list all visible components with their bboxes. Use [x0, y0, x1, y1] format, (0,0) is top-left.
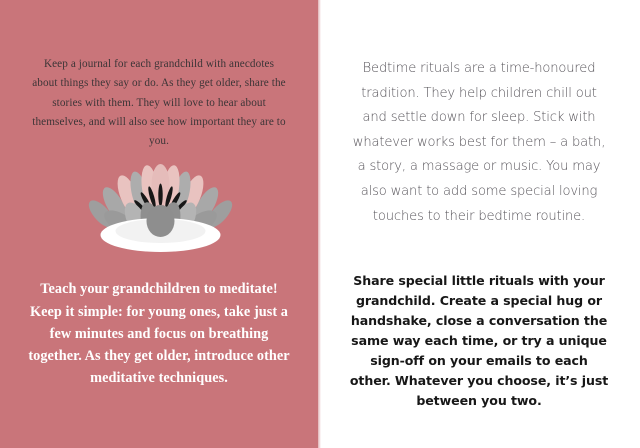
- right-page: Bedtime rituals are a time-honoured trad…: [318, 0, 640, 448]
- left-page-body-text: Keep a journal for each grandchild with …: [30, 55, 288, 151]
- lotus-flower-illustration: [88, 163, 233, 255]
- left-page: Keep a journal for each grandchild with …: [0, 0, 318, 448]
- right-page-body-text: Bedtime rituals are a time-honoured trad…: [350, 57, 608, 229]
- left-page-callout-text: Teach your grandchildren to meditate! Ke…: [28, 278, 290, 389]
- book-spread: Keep a journal for each grandchild with …: [0, 0, 640, 448]
- right-page-callout-text: Share special little rituals with your g…: [348, 271, 610, 412]
